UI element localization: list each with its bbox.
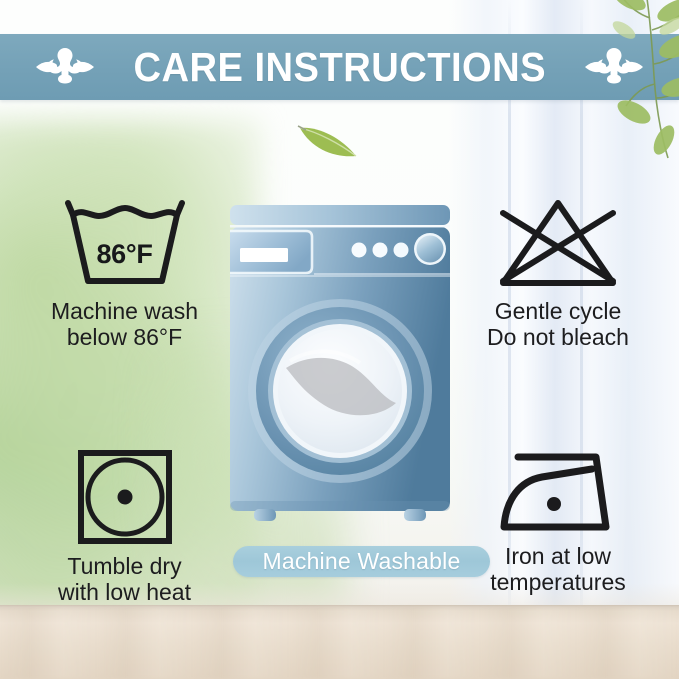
machine-washable-badge: Machine Washable	[233, 546, 490, 577]
status-badge-label: Machine Washable	[263, 548, 461, 575]
page-title: CARE INSTRUCTIONS	[133, 44, 546, 91]
header-banner: CARE INSTRUCTIONS	[0, 34, 679, 100]
iron-one-dot-icon	[496, 447, 620, 537]
front-load-washing-machine-illustration	[228, 205, 452, 535]
wash-tub-icon-wrap: 86°F	[60, 195, 190, 292]
care-symbol-machine-wash: 86°F Machine wash below 86°F	[22, 195, 227, 351]
care-symbol-caption: Iron at low temperatures	[490, 544, 626, 596]
care-symbol-caption: Machine wash below 86°F	[51, 299, 198, 351]
wash-temperature-value: 86°F	[60, 239, 190, 270]
tumble-dry-low-icon	[75, 447, 175, 547]
fleur-de-lis-ornament-left	[34, 44, 96, 90]
wood-grain-texture	[0, 607, 679, 679]
care-symbol-caption: Gentle cycle Do not bleach	[487, 299, 629, 351]
care-symbol-do-not-bleach: Gentle cycle Do not bleach	[452, 195, 664, 351]
care-instructions-graphic: CARE INSTRUCTIONS	[0, 0, 679, 679]
fleur-de-lis-ornament-right	[583, 44, 645, 90]
care-symbol-caption: Tumble dry with low heat	[58, 554, 191, 606]
triangle-crossed-out-icon	[491, 195, 625, 292]
care-symbol-tumble-dry: Tumble dry with low heat	[22, 447, 227, 606]
